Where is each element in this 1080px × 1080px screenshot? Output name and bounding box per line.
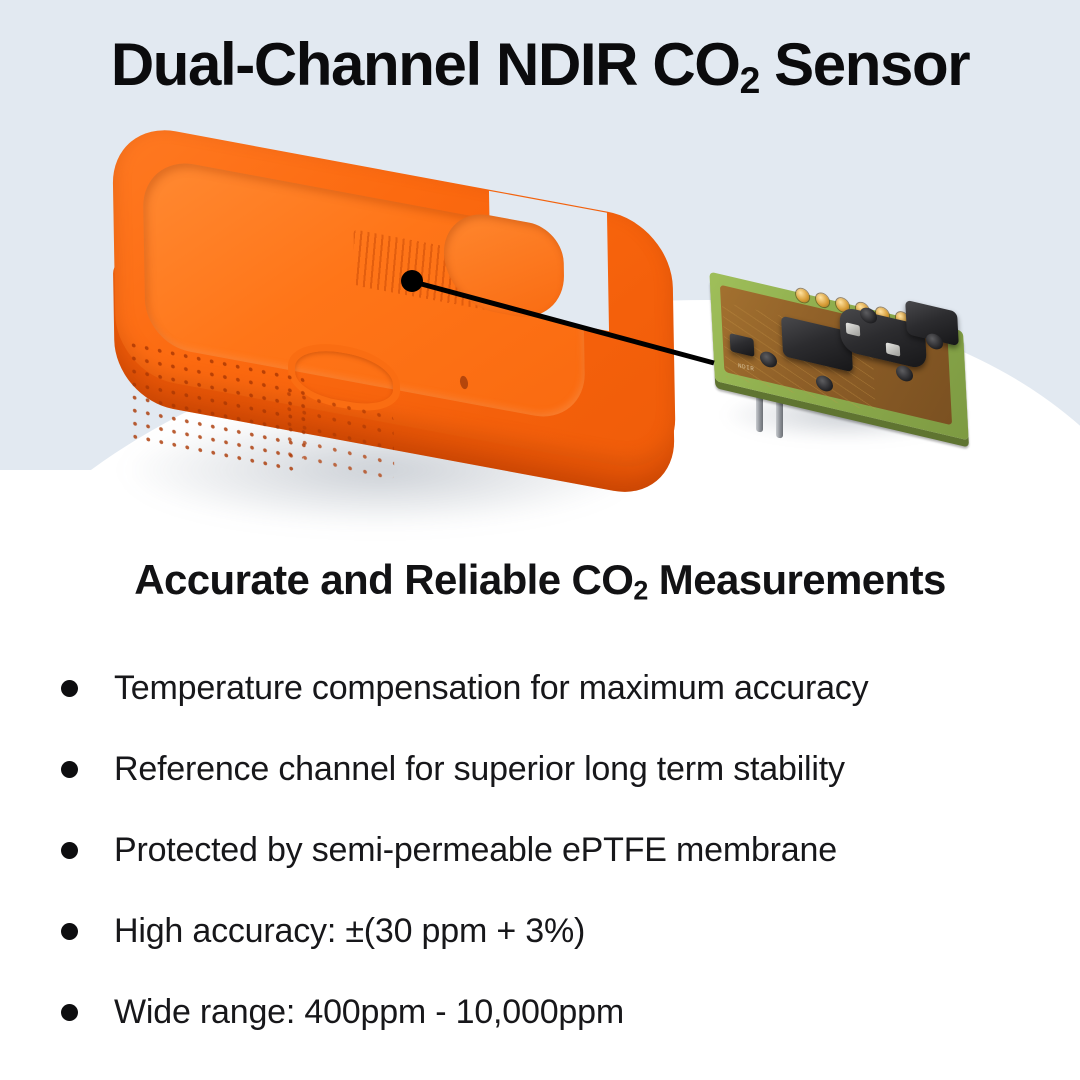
list-item: Temperature compensation for maximum acc… — [56, 648, 1036, 729]
bullet-icon — [61, 1004, 78, 1021]
feature-label: High accuracy: ±(30 ppm + 3%) — [114, 912, 585, 951]
page-title-prefix: Dual-Channel NDIR CO — [111, 31, 740, 98]
feature-label: Temperature compensation for maximum acc… — [114, 669, 868, 708]
product-feature-card: Dual-Channel NDIR CO2 Sensor NDIR — [0, 0, 1080, 1080]
page-title-suffix: Sensor — [759, 31, 969, 98]
bullet-icon — [61, 842, 78, 859]
section-subtitle-subscript: 2 — [633, 575, 647, 605]
bullet-icon — [61, 761, 78, 778]
list-item: Wide range: 400ppm - 10,000ppm — [56, 972, 1036, 1053]
section-subtitle: Accurate and Reliable CO2 Measurements — [0, 556, 1080, 606]
page-title-subscript: 2 — [740, 59, 759, 101]
product-photo: NDIR — [0, 140, 1080, 550]
callout-leader-line — [0, 140, 1080, 550]
section-subtitle-prefix: Accurate and Reliable CO — [134, 556, 633, 603]
feature-label: Wide range: 400ppm - 10,000ppm — [114, 993, 624, 1032]
bullet-icon — [61, 923, 78, 940]
list-item: Protected by semi-permeable ePTFE membra… — [56, 810, 1036, 891]
bullet-icon — [61, 680, 78, 697]
feature-list: Temperature compensation for maximum acc… — [56, 648, 1036, 1053]
feature-label: Reference channel for superior long term… — [114, 750, 845, 789]
feature-label: Protected by semi-permeable ePTFE membra… — [114, 831, 837, 870]
page-title: Dual-Channel NDIR CO2 Sensor — [0, 30, 1080, 102]
list-item: High accuracy: ±(30 ppm + 3%) — [56, 891, 1036, 972]
list-item: Reference channel for superior long term… — [56, 729, 1036, 810]
section-subtitle-suffix: Measurements — [648, 556, 946, 603]
